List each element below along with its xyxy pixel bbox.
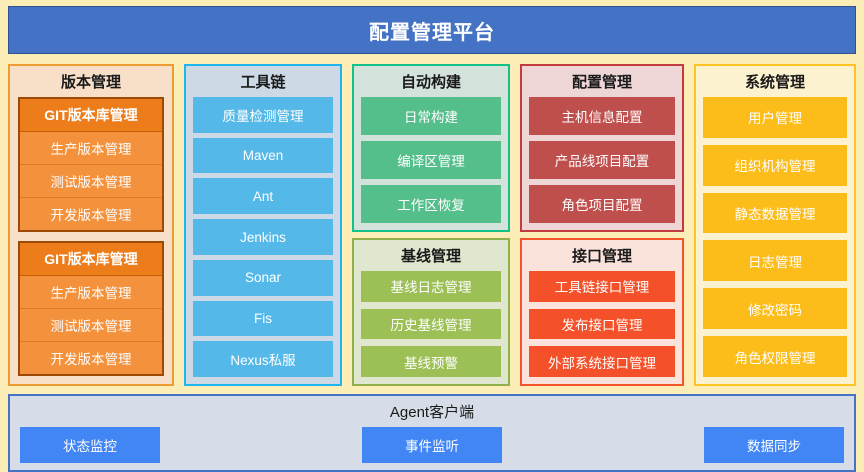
module-item-test-version-1[interactable]: 测试版本管理 xyxy=(20,165,162,198)
module-columns: 版本管理 GIT版本库管理 生产版本管理 测试版本管理 开发版本管理 GIT版本… xyxy=(8,64,856,386)
module-item-external-system-api[interactable]: 外部系统接口管理 xyxy=(529,346,675,377)
panel-title-auto-build: 自动构建 xyxy=(354,66,508,97)
page-title: 配置管理平台 xyxy=(369,16,495,45)
module-item-test-version-2[interactable]: 测试版本管理 xyxy=(20,309,162,342)
module-item-git-repo-1[interactable]: GIT版本库管理 xyxy=(20,99,162,132)
module-item-publish-api[interactable]: 发布接口管理 xyxy=(529,309,675,340)
agent-client-buttons: 状态监控 事件监听 数据同步 xyxy=(10,425,854,470)
column-config-management: 配置管理 主机信息配置 产品线项目配置 角色项目配置 接口管理 工具链接口管理 … xyxy=(520,64,684,386)
module-item-jenkins[interactable]: Jenkins xyxy=(193,219,333,255)
module-item-maven[interactable]: Maven xyxy=(193,138,333,174)
panel-auto-build: 自动构建 日常构建 编译区管理 工作区恢复 xyxy=(352,64,510,232)
module-item-host-info-config[interactable]: 主机信息配置 xyxy=(529,97,675,135)
module-item-quality-check[interactable]: 质量检测管理 xyxy=(193,97,333,133)
panel-body-api-management: 工具链接口管理 发布接口管理 外部系统接口管理 xyxy=(522,271,682,384)
module-item-role-project-config[interactable]: 角色项目配置 xyxy=(529,185,675,223)
panel-title-api-management: 接口管理 xyxy=(522,240,682,271)
column-system-management: 系统管理 用户管理 组织机构管理 静态数据管理 日志管理 修改密码 角色权限管理 xyxy=(694,64,856,386)
module-item-user-management[interactable]: 用户管理 xyxy=(703,97,847,138)
module-item-history-baseline[interactable]: 历史基线管理 xyxy=(361,309,501,340)
git-repo-group-2: GIT版本库管理 生产版本管理 测试版本管理 开发版本管理 xyxy=(18,241,164,376)
agent-client-bar: Agent客户端 状态监控 事件监听 数据同步 xyxy=(8,394,856,472)
module-item-change-password[interactable]: 修改密码 xyxy=(703,288,847,329)
agent-button-event-listener[interactable]: 事件监听 xyxy=(362,427,502,463)
module-item-static-data[interactable]: 静态数据管理 xyxy=(703,193,847,234)
module-item-compile-area[interactable]: 编译区管理 xyxy=(361,141,501,179)
module-item-nexus[interactable]: Nexus私服 xyxy=(193,341,333,377)
column-version-management: 版本管理 GIT版本库管理 生产版本管理 测试版本管理 开发版本管理 GIT版本… xyxy=(8,64,174,386)
module-item-toolchain-api[interactable]: 工具链接口管理 xyxy=(529,271,675,302)
module-item-sonar[interactable]: Sonar xyxy=(193,260,333,296)
module-item-git-repo-2[interactable]: GIT版本库管理 xyxy=(20,243,162,276)
module-item-dev-version-2[interactable]: 开发版本管理 xyxy=(20,342,162,374)
agent-button-status-monitor[interactable]: 状态监控 xyxy=(20,427,160,463)
module-item-fis[interactable]: Fis xyxy=(193,301,333,337)
panel-body-system-management: 用户管理 组织机构管理 静态数据管理 日志管理 修改密码 角色权限管理 xyxy=(696,97,854,384)
configuration-management-platform-diagram: 配置管理平台 版本管理 GIT版本库管理 生产版本管理 测试版本管理 开发版本管… xyxy=(0,0,864,472)
agent-button-data-sync[interactable]: 数据同步 xyxy=(704,427,844,463)
module-item-baseline-log[interactable]: 基线日志管理 xyxy=(361,271,501,302)
git-repo-group-1: GIT版本库管理 生产版本管理 测试版本管理 开发版本管理 xyxy=(18,97,164,232)
module-item-log-management[interactable]: 日志管理 xyxy=(703,240,847,281)
module-item-org-management[interactable]: 组织机构管理 xyxy=(703,145,847,186)
panel-body-auto-build: 日常构建 编译区管理 工作区恢复 xyxy=(354,97,508,230)
module-item-role-permission[interactable]: 角色权限管理 xyxy=(703,336,847,377)
module-item-workspace-restore[interactable]: 工作区恢复 xyxy=(361,185,501,223)
panel-title-toolchain: 工具链 xyxy=(186,66,340,97)
panel-body-baseline: 基线日志管理 历史基线管理 基线预警 xyxy=(354,271,508,384)
panel-version-management: 版本管理 GIT版本库管理 生产版本管理 测试版本管理 开发版本管理 GIT版本… xyxy=(8,64,174,386)
agent-client-title: Agent客户端 xyxy=(10,396,854,425)
module-item-baseline-alert[interactable]: 基线预警 xyxy=(361,346,501,377)
module-item-prod-version-2[interactable]: 生产版本管理 xyxy=(20,276,162,309)
module-item-ant[interactable]: Ant xyxy=(193,178,333,214)
panel-toolchain: 工具链 质量检测管理 Maven Ant Jenkins Sonar Fis N… xyxy=(184,64,342,386)
module-item-product-line-config[interactable]: 产品线项目配置 xyxy=(529,141,675,179)
panel-system-management: 系统管理 用户管理 组织机构管理 静态数据管理 日志管理 修改密码 角色权限管理 xyxy=(694,64,856,386)
panel-api-management: 接口管理 工具链接口管理 发布接口管理 外部系统接口管理 xyxy=(520,238,684,386)
panel-baseline: 基线管理 基线日志管理 历史基线管理 基线预警 xyxy=(352,238,510,386)
column-auto-build: 自动构建 日常构建 编译区管理 工作区恢复 基线管理 基线日志管理 历史基线管理… xyxy=(352,64,510,386)
module-item-prod-version-1[interactable]: 生产版本管理 xyxy=(20,132,162,165)
panel-body-toolchain: 质量检测管理 Maven Ant Jenkins Sonar Fis Nexus… xyxy=(186,97,340,384)
platform-title-banner: 配置管理平台 xyxy=(8,6,856,54)
module-item-dev-version-1[interactable]: 开发版本管理 xyxy=(20,198,162,230)
panel-title-version-management: 版本管理 xyxy=(10,66,172,97)
panel-config-management: 配置管理 主机信息配置 产品线项目配置 角色项目配置 xyxy=(520,64,684,232)
column-toolchain: 工具链 质量检测管理 Maven Ant Jenkins Sonar Fis N… xyxy=(184,64,342,386)
panel-title-baseline: 基线管理 xyxy=(354,240,508,271)
panel-title-config-management: 配置管理 xyxy=(522,66,682,97)
panel-title-system-management: 系统管理 xyxy=(696,66,854,97)
panel-body-config-management: 主机信息配置 产品线项目配置 角色项目配置 xyxy=(522,97,682,230)
panel-body-version-management: GIT版本库管理 生产版本管理 测试版本管理 开发版本管理 GIT版本库管理 生… xyxy=(10,97,172,384)
module-item-daily-build[interactable]: 日常构建 xyxy=(361,97,501,135)
